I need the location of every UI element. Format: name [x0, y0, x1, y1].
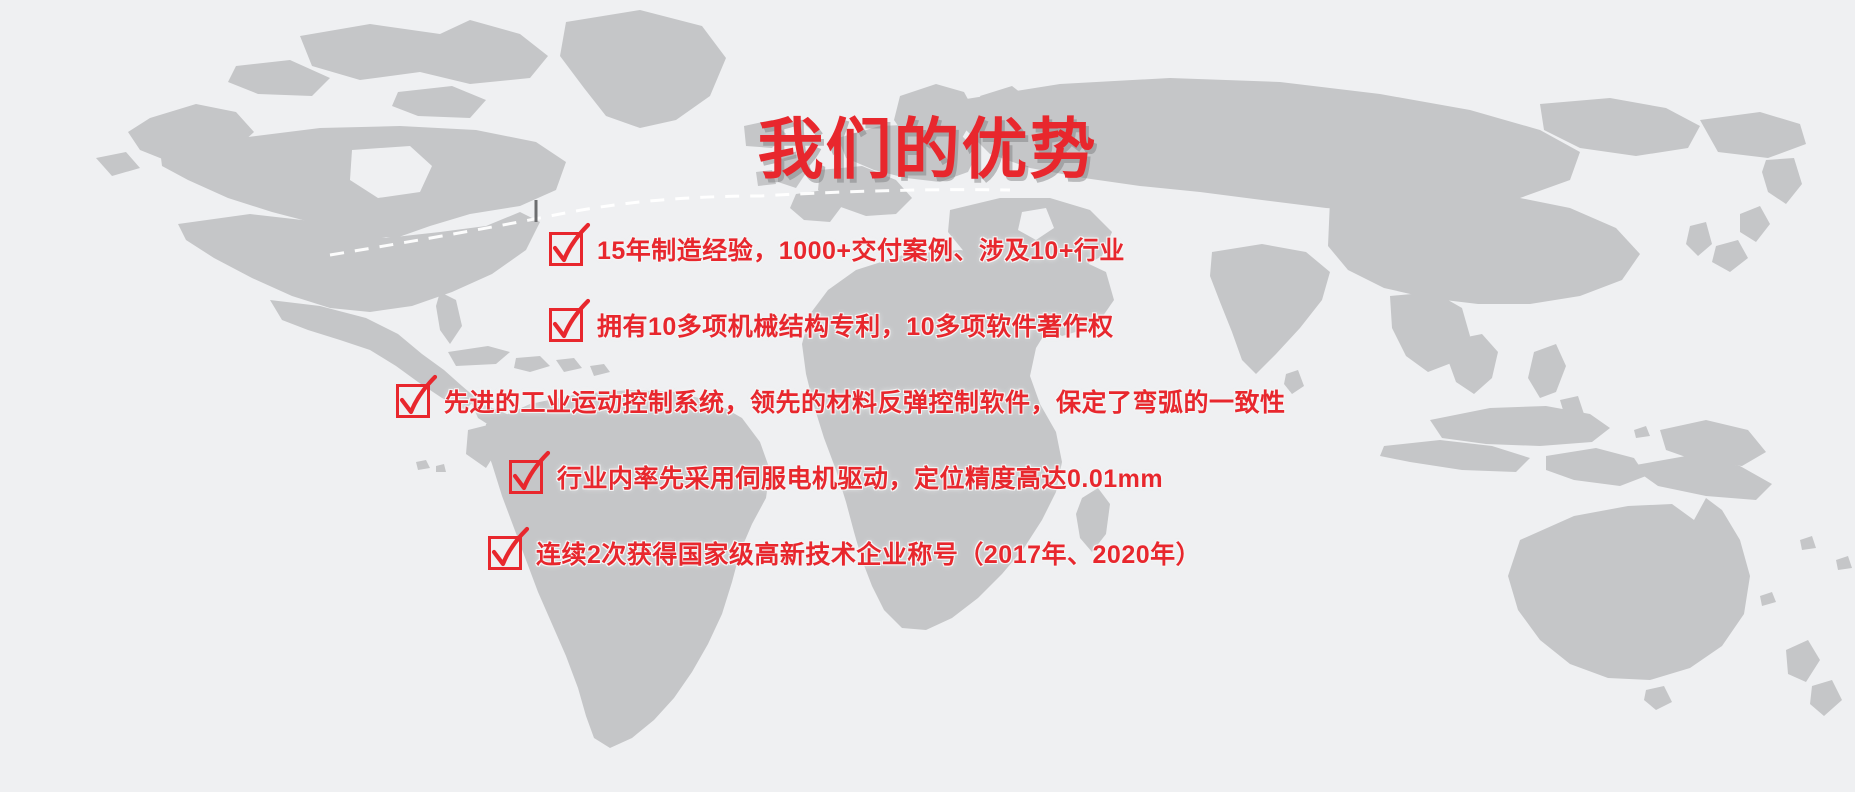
checkbox-checked-icon — [396, 384, 430, 418]
advantages-banner: 我们的优势 15年制造经验，1000+交付案例、涉及10+行业 — [0, 0, 1855, 792]
page-title: 我们的优势 — [0, 116, 1855, 182]
advantages-list: 15年制造经验，1000+交付案例、涉及10+行业 拥有10多项机械结构专利，1… — [0, 228, 1855, 574]
advantage-text: 拥有10多项机械结构专利，10多项软件著作权 — [597, 307, 1114, 343]
banner-content: 我们的优势 15年制造经验，1000+交付案例、涉及10+行业 — [0, 0, 1855, 792]
checkbox-checked-icon — [509, 460, 543, 494]
checkbox-checked-icon — [549, 308, 583, 342]
advantage-text: 连续2次获得国家级高新技术企业称号（2017年、2020年） — [536, 535, 1201, 571]
advantage-text: 行业内率先采用伺服电机驱动，定位精度高达0.01mm — [557, 459, 1163, 495]
list-item: 15年制造经验，1000+交付案例、涉及10+行业 — [0, 228, 1855, 270]
list-item: 拥有10多项机械结构专利，10多项软件著作权 — [0, 304, 1855, 346]
checkbox-checked-icon — [488, 536, 522, 570]
checkbox-checked-icon — [549, 232, 583, 266]
list-item: 连续2次获得国家级高新技术企业称号（2017年、2020年） — [0, 532, 1855, 574]
advantage-text: 15年制造经验，1000+交付案例、涉及10+行业 — [597, 231, 1125, 267]
list-item: 先进的工业运动控制系统，领先的材料反弹控制软件，保定了弯弧的一致性 — [0, 380, 1855, 422]
advantage-text: 先进的工业运动控制系统，领先的材料反弹控制软件，保定了弯弧的一致性 — [444, 383, 1286, 419]
list-item: 行业内率先采用伺服电机驱动，定位精度高达0.01mm — [0, 456, 1855, 498]
